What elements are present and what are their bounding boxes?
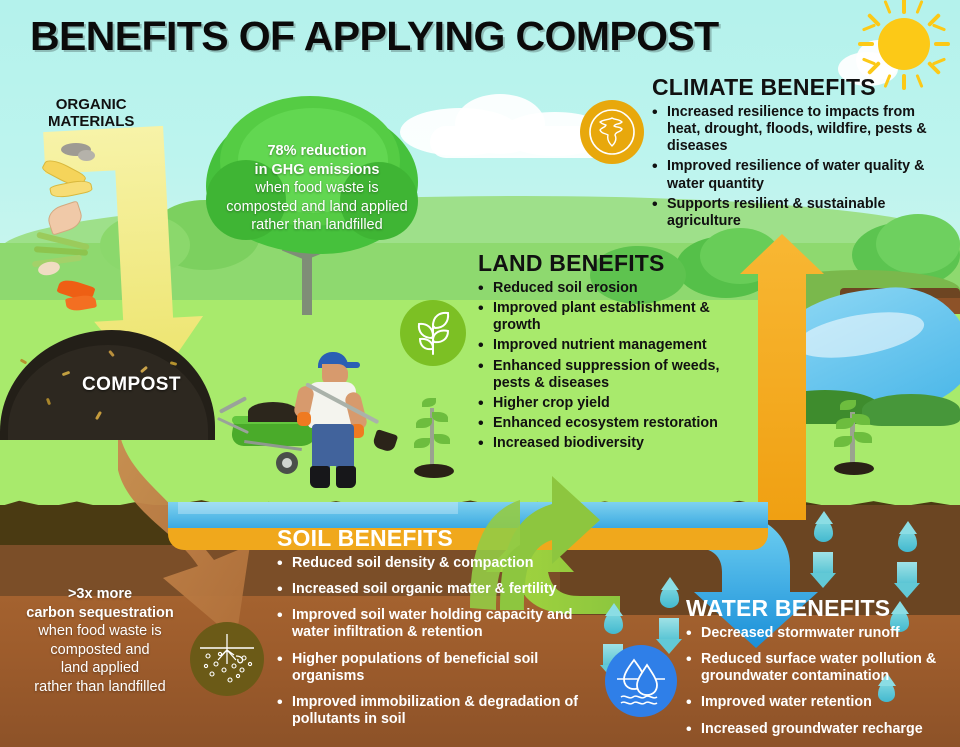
water-benefits-heading: WATER BENEFITS — [686, 595, 958, 622]
list-item: Improved resilience of water quality & w… — [652, 158, 930, 192]
organic-materials-line-2: MATERIALS — [48, 113, 134, 130]
water-droplet-icon — [604, 612, 623, 634]
ghg-stat-line-1: 78% reduction — [214, 142, 420, 161]
carbon-stat-line-1: >3x more — [2, 585, 198, 604]
soil-benefits-block: SOIL BENEFITS Reduced soil density & com… — [277, 525, 583, 737]
down-arrow-icon — [813, 552, 833, 574]
carbon-stat-callout: >3x more carbon sequestration when food … — [2, 585, 198, 696]
water-surface-haze — [178, 502, 458, 514]
list-item: Improved plant establishment & growth — [478, 300, 746, 334]
organic-materials-label: ORGANIC MATERIALS — [48, 96, 134, 131]
soil-organisms-icon-glyph — [194, 626, 260, 692]
ghg-stat-line-5: rather than landfilled — [251, 217, 382, 233]
soil-organisms-icon — [190, 622, 264, 696]
carbon-stat-line-4: composted and — [50, 642, 149, 658]
list-item: Enhanced suppression of weeds, pests & d… — [478, 358, 746, 392]
climate-benefits-block: CLIMATE BENEFITS Increased resilience to… — [652, 74, 930, 233]
water-drop-icon — [605, 645, 677, 717]
water-droplet-icon — [814, 520, 833, 542]
water-drop-icon-glyph — [612, 652, 670, 710]
soil-benefits-list: Reduced soil density & compaction Increa… — [277, 555, 583, 728]
list-item: Decreased stormwater runoff — [686, 625, 958, 642]
list-item: Reduced soil density & compaction — [277, 555, 583, 572]
list-item: Improved soil water holding capacity and… — [277, 607, 583, 641]
soil-benefits-heading: SOIL BENEFITS — [277, 525, 583, 552]
page-title: BENEFITS OF APPLYING COMPOST — [30, 13, 719, 60]
water-benefits-block: WATER BENEFITS Decreased stormwater runo… — [686, 595, 958, 747]
vegetable-scraps-icon — [78, 150, 95, 161]
list-item: Reduced soil erosion — [478, 280, 746, 297]
list-item: Increased biodiversity — [478, 435, 746, 452]
water-droplet-icon — [660, 586, 679, 608]
climate-benefits-list: Increased resilience to impacts from hea… — [652, 104, 930, 230]
ghg-stat-callout: 78% reduction in GHG emissions when food… — [214, 142, 420, 235]
ghg-stat-line-4: composted and land applied — [226, 199, 407, 215]
water-benefits-list: Decreased stormwater runoff Reduced surf… — [686, 625, 958, 738]
organic-materials-line-1: ORGANIC — [56, 96, 127, 113]
climate-benefits-heading: CLIMATE BENEFITS — [652, 74, 930, 101]
land-benefits-heading: LAND BENEFITS — [478, 250, 746, 277]
leaf-icon — [400, 300, 466, 366]
carbon-stat-line-5: land applied — [61, 660, 139, 676]
down-arrow-icon — [897, 562, 917, 584]
land-benefits-block: LAND BENEFITS Reduced soil erosion Impro… — [478, 250, 746, 455]
carbon-stat-line-3: when food waste is — [38, 623, 161, 639]
globe-icon — [580, 100, 644, 164]
water-droplet-icon — [898, 530, 917, 552]
list-item: Increased resilience to impacts from hea… — [652, 104, 930, 155]
list-item: Improved immobilization & degradation of… — [277, 694, 583, 728]
carbon-stat-line-6: rather than landfilled — [34, 679, 165, 695]
list-item: Higher crop yield — [478, 395, 746, 412]
ghg-stat-line-3: when food waste is — [255, 180, 378, 196]
leaf-icon-glyph — [408, 308, 458, 358]
list-item: Supports resilient & sustainable agricul… — [652, 196, 930, 230]
list-item: Higher populations of beneficial soil or… — [277, 651, 583, 685]
down-arrow-icon — [659, 618, 679, 640]
ghg-stat-line-2: in GHG emissions — [214, 161, 420, 180]
carbon-stat-line-2: carbon sequestration — [2, 604, 198, 623]
land-benefits-list: Reduced soil erosion Improved plant esta… — [478, 280, 746, 452]
list-item: Improved water retention — [686, 694, 958, 711]
list-item: Reduced surface water pollution & ground… — [686, 651, 958, 685]
list-item: Increased groundwater recharge — [686, 721, 958, 738]
globe-icon-glyph — [586, 106, 638, 158]
list-item: Improved nutrient management — [478, 337, 746, 354]
list-item: Increased soil organic matter & fertilit… — [277, 581, 583, 598]
compost-label: COMPOST — [82, 374, 181, 396]
infographic-canvas: COMPOST ORGANIC MATERIALS — [0, 0, 960, 747]
list-item: Enhanced ecosystem restoration — [478, 415, 746, 432]
